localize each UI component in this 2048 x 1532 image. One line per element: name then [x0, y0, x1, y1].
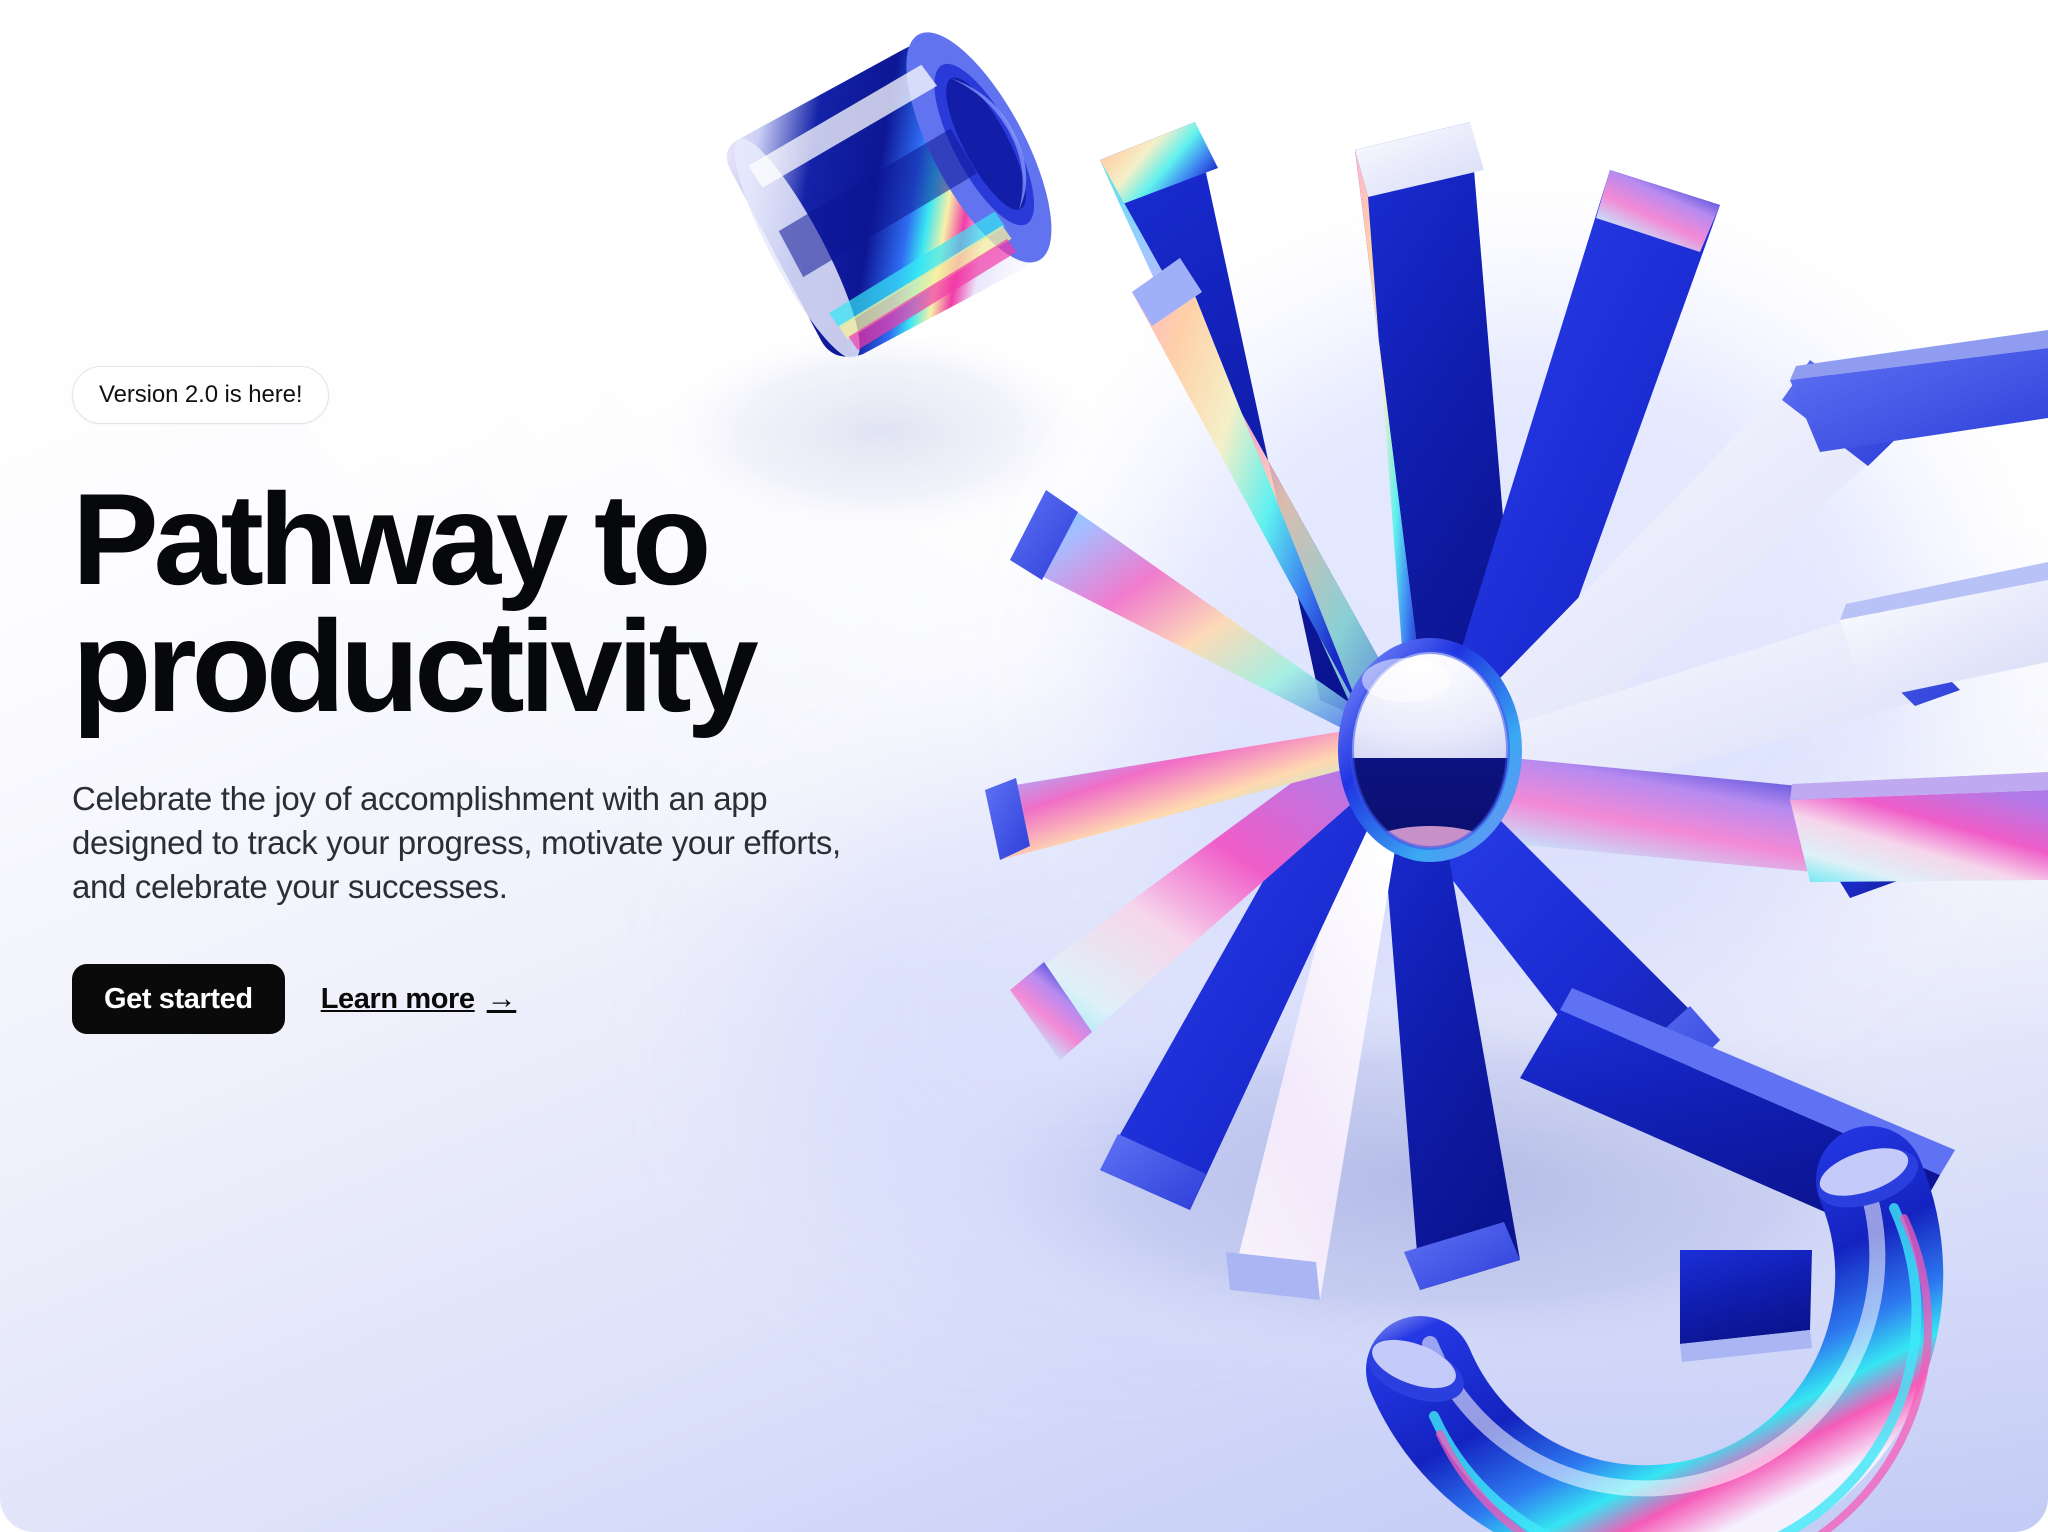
- headline-line-1: Pathway to: [72, 466, 706, 612]
- arrow-right-icon: →: [487, 984, 517, 1014]
- version-badge[interactable]: Version 2.0 is here!: [72, 366, 329, 424]
- hero-section: Version 2.0 is here! Pathway to producti…: [0, 0, 2048, 1532]
- get-started-button[interactable]: Get started: [72, 964, 285, 1034]
- version-badge-label: Version 2.0 is here!: [99, 381, 302, 409]
- page-title: Pathway to productivity: [72, 476, 952, 731]
- cta-group: Get started Learn more →: [72, 964, 1002, 1034]
- hero-description: Celebrate the joy of accomplishment with…: [72, 777, 902, 909]
- hero-copy: Version 2.0 is here! Pathway to producti…: [72, 366, 1002, 1034]
- learn-more-link[interactable]: Learn more →: [307, 964, 531, 1034]
- headline-line-2: productivity: [72, 593, 754, 739]
- learn-more-label: Learn more: [321, 983, 475, 1016]
